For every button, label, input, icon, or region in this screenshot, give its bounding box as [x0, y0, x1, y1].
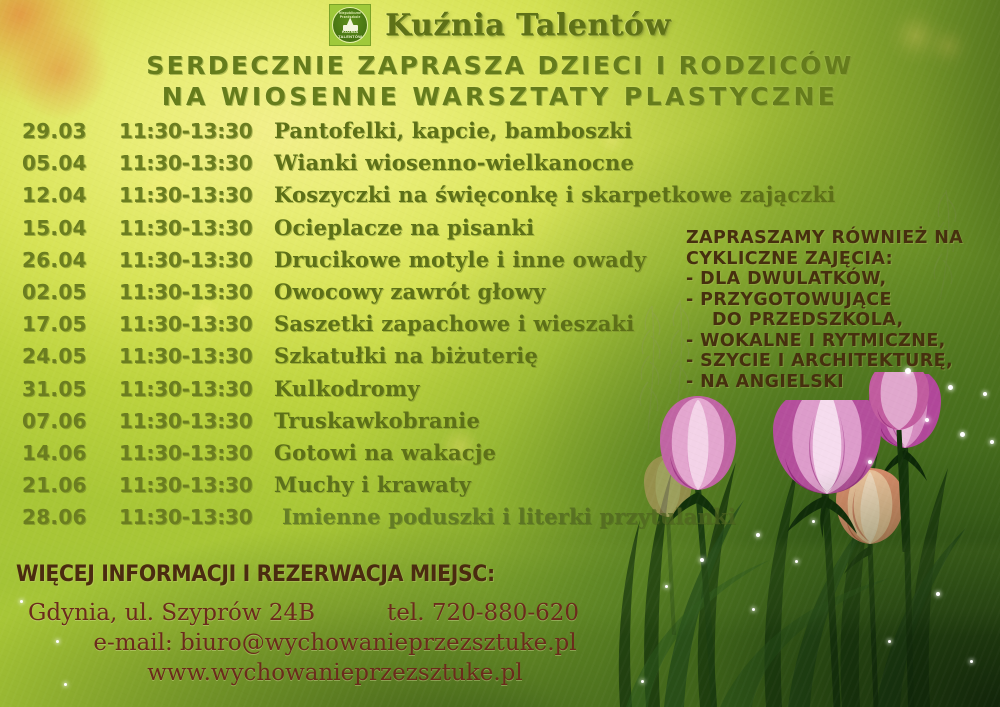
schedule-title: Gotowi na wakacje — [274, 440, 496, 465]
schedule-row: 29.03 11:30-13:30 Pantofelki, kapcie, ba… — [22, 118, 835, 150]
schedule-row: 14.06 11:30-13:30 Gotowi na wakacje — [22, 440, 835, 472]
kuznia-talentow-logo-icon: Niepubliczne Przedszkole KUŹNIA TALENTÓW — [329, 4, 371, 46]
cyclic-heading-line-1: ZAPRASZAMY RÓWNIEŻ NA — [686, 228, 986, 249]
schedule-time: 11:30-13:30 — [119, 344, 274, 368]
poster-title: Kuźnia Talentów — [385, 8, 671, 43]
schedule-time: 11:30-13:30 — [119, 505, 274, 529]
footer-address: Gdynia, ul. Szyprów 24B — [28, 598, 315, 628]
schedule-time: 11:30-13:30 — [119, 119, 274, 143]
footer-website: www.wychowanieprzezsztuke.pl — [0, 658, 640, 688]
cyclic-list-item-cont: DO PRZEDSZKOLA, — [686, 310, 986, 331]
schedule-title: Muchy i krawaty — [274, 472, 471, 497]
poster-subtitle: SERDECZNIE ZAPRASZA DZIECI I RODZICÓW NA… — [0, 50, 1000, 112]
schedule-time: 11:30-13:30 — [119, 183, 274, 207]
schedule-time: 11:30-13:30 — [119, 312, 274, 336]
schedule-title: Ocieplacze na pisanki — [274, 215, 534, 240]
poster-root: Niepubliczne Przedszkole KUŹNIA TALENTÓW… — [0, 0, 1000, 707]
schedule-title: Kulkodromy — [274, 376, 420, 401]
schedule-date: 14.06 — [22, 441, 119, 465]
footer-phone: tel. 720-880-620 — [387, 598, 579, 628]
schedule-row: 28.06 11:30-13:30 Imienne poduszki i lit… — [22, 504, 835, 536]
schedule-date: 17.05 — [22, 312, 119, 336]
schedule-date: 28.06 — [22, 505, 119, 529]
schedule-time: 11:30-13:30 — [119, 441, 274, 465]
schedule-title: Koszyczki na święconkę i skarpetkowe zaj… — [274, 182, 835, 207]
cyclic-list-item: - NA ANGIELSKI — [686, 372, 986, 393]
schedule-date: 29.03 — [22, 119, 119, 143]
schedule-date: 05.04 — [22, 151, 119, 175]
subtitle-line-1: SERDECZNIE ZAPRASZA DZIECI I RODZICÓW — [0, 50, 1000, 81]
footer-heading: WIĘCEJ INFORMACJI I REZERWACJA MIEJSC: — [16, 562, 495, 587]
schedule-row: 21.06 11:30-13:30 Muchy i krawaty — [22, 472, 835, 504]
schedule-date: 24.05 — [22, 344, 119, 368]
schedule-date: 02.05 — [22, 280, 119, 304]
schedule-title: Drucikowe motyle i inne owady — [274, 247, 646, 272]
schedule-row: 07.06 11:30-13:30 Truskawkobranie — [22, 408, 835, 440]
schedule-time: 11:30-13:30 — [119, 248, 274, 272]
footer-email: e-mail: biuro@wychowanieprzezsztuke.pl — [0, 628, 640, 658]
schedule-date: 31.05 — [22, 377, 119, 401]
schedule-date: 12.04 — [22, 183, 119, 207]
schedule-title: Imienne poduszki i literki przytulanki — [274, 504, 736, 529]
cyclic-list-item: - DLA DWULATKÓW, — [686, 269, 986, 290]
schedule-time: 11:30-13:30 — [119, 409, 274, 433]
cyclic-list-item: - PRZYGOTOWUJĄCE — [686, 290, 986, 311]
schedule-date: 15.04 — [22, 216, 119, 240]
schedule-date: 07.06 — [22, 409, 119, 433]
schedule-time: 11:30-13:30 — [119, 473, 274, 497]
schedule-time: 11:30-13:30 — [119, 216, 274, 240]
schedule-row: 12.04 11:30-13:30 Koszyczki na święconkę… — [22, 182, 835, 214]
schedule-date: 26.04 — [22, 248, 119, 272]
schedule-time: 11:30-13:30 — [119, 280, 274, 304]
schedule-row: 05.04 11:30-13:30 Wianki wiosenno-wielka… — [22, 150, 835, 182]
logo-arc-bottom-text: KUŹNIA TALENTÓW — [333, 29, 367, 39]
schedule-time: 11:30-13:30 — [119, 151, 274, 175]
footer-contact-block: Gdynia, ul. Szyprów 24B tel. 720-880-620… — [0, 598, 640, 688]
cyclic-classes-block: ZAPRASZAMY RÓWNIEŻ NA CYKLICZNE ZAJĘCIA:… — [686, 228, 986, 392]
schedule-title: Truskawkobranie — [274, 408, 480, 433]
poster-header: Niepubliczne Przedszkole KUŹNIA TALENTÓW… — [0, 4, 1000, 46]
schedule-time: 11:30-13:30 — [119, 377, 274, 401]
schedule-title: Szkatułki na biżuterię — [274, 343, 538, 368]
schedule-title: Wianki wiosenno-wielkanocne — [274, 150, 634, 175]
schedule-title: Pantofelki, kapcie, bamboszki — [274, 118, 632, 143]
cyclic-list-item: - WOKALNE I RYTMICZNE, — [686, 331, 986, 352]
schedule-date: 21.06 — [22, 473, 119, 497]
subtitle-line-2: NA WIOSENNE WARSZTATY PLASTYCZNE — [0, 81, 1000, 112]
cyclic-heading-line-2: CYKLICZNE ZAJĘCIA: — [686, 249, 986, 270]
schedule-title: Owocowy zawrót głowy — [274, 279, 546, 304]
cyclic-list-item: - SZYCIE I ARCHITEKTURĘ, — [686, 351, 986, 372]
schedule-title: Saszetki zapachowe i wieszaki — [274, 311, 634, 336]
